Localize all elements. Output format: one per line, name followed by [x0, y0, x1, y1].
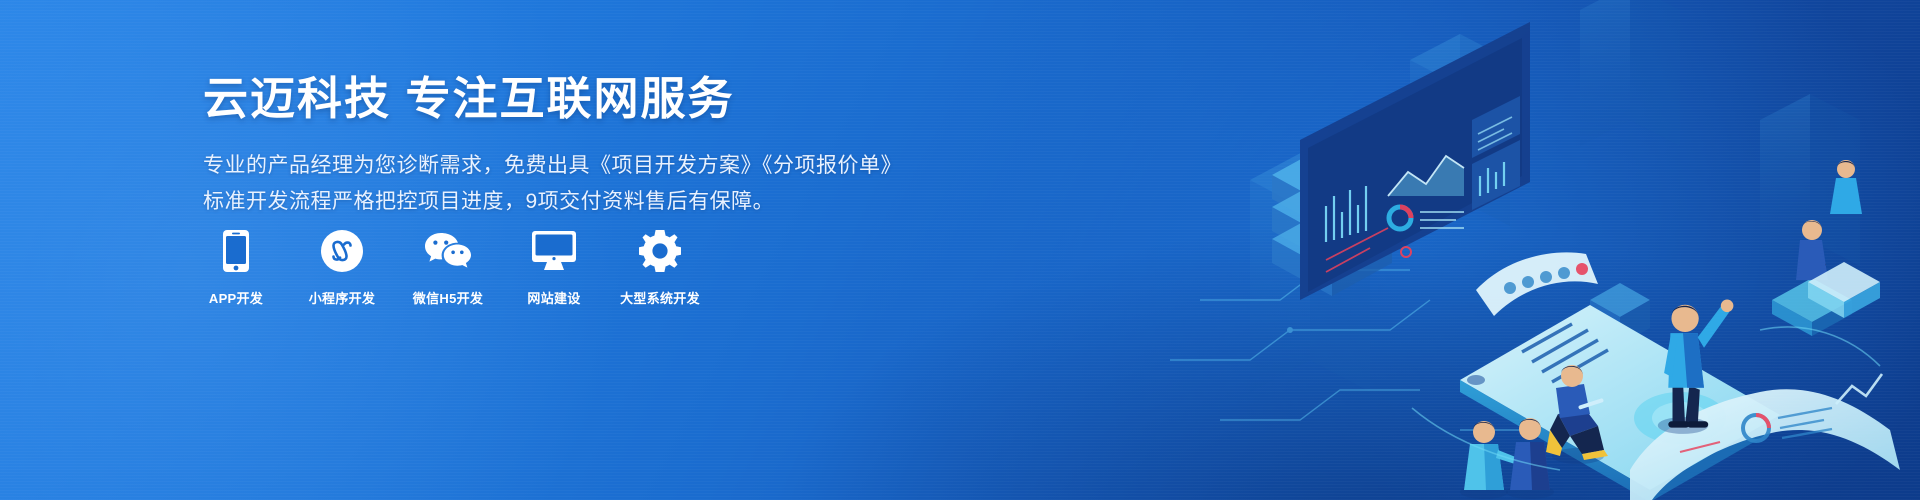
banner-subtitle: 专业的产品经理为您诊断需求，免费出具《项目开发方案》《分项报价单》 标准开发流程…	[203, 148, 903, 220]
service-item-wechat-h5[interactable]: 微信H5开发	[412, 228, 484, 307]
service-item-website[interactable]: 网站建设	[518, 228, 590, 307]
service-item-large-system[interactable]: 大型系统开发	[624, 228, 696, 307]
wechat-icon	[424, 228, 472, 274]
banner-subtitle-line-1: 专业的产品经理为您诊断需求，免费出具《项目开发方案》《分项报价单》	[203, 148, 903, 184]
banner-headline: 云迈科技 专注互联网服务	[203, 72, 903, 126]
isometric-data-dashboard-illustration	[1160, 0, 1920, 500]
service-label-wechat-h5: 微信H5开发	[413, 288, 483, 307]
service-icon-list: APP开发 小程序开发	[200, 228, 696, 307]
service-item-mini-program[interactable]: 小程序开发	[306, 228, 378, 307]
mini-program-icon	[321, 228, 363, 274]
monitor-icon	[532, 228, 576, 274]
service-item-app[interactable]: APP开发	[200, 228, 272, 307]
banner-subtitle-line-2: 标准开发流程严格把控项目进度，9项交付资料售后有保障。	[203, 184, 903, 220]
gear-icon	[639, 228, 681, 274]
banner-text-block: 云迈科技 专注互联网服务 专业的产品经理为您诊断需求，免费出具《项目开发方案》《…	[203, 72, 903, 220]
service-label-app: APP开发	[209, 288, 263, 307]
service-label-website: 网站建设	[527, 288, 580, 307]
background-glow-bottom	[768, 220, 1920, 500]
mobile-phone-icon	[223, 228, 249, 274]
promo-banner: 云迈科技 专注互联网服务 专业的产品经理为您诊断需求，免费出具《项目开发方案》《…	[0, 0, 1920, 500]
service-label-large-system: 大型系统开发	[620, 288, 700, 307]
service-label-mini-program: 小程序开发	[309, 288, 376, 307]
